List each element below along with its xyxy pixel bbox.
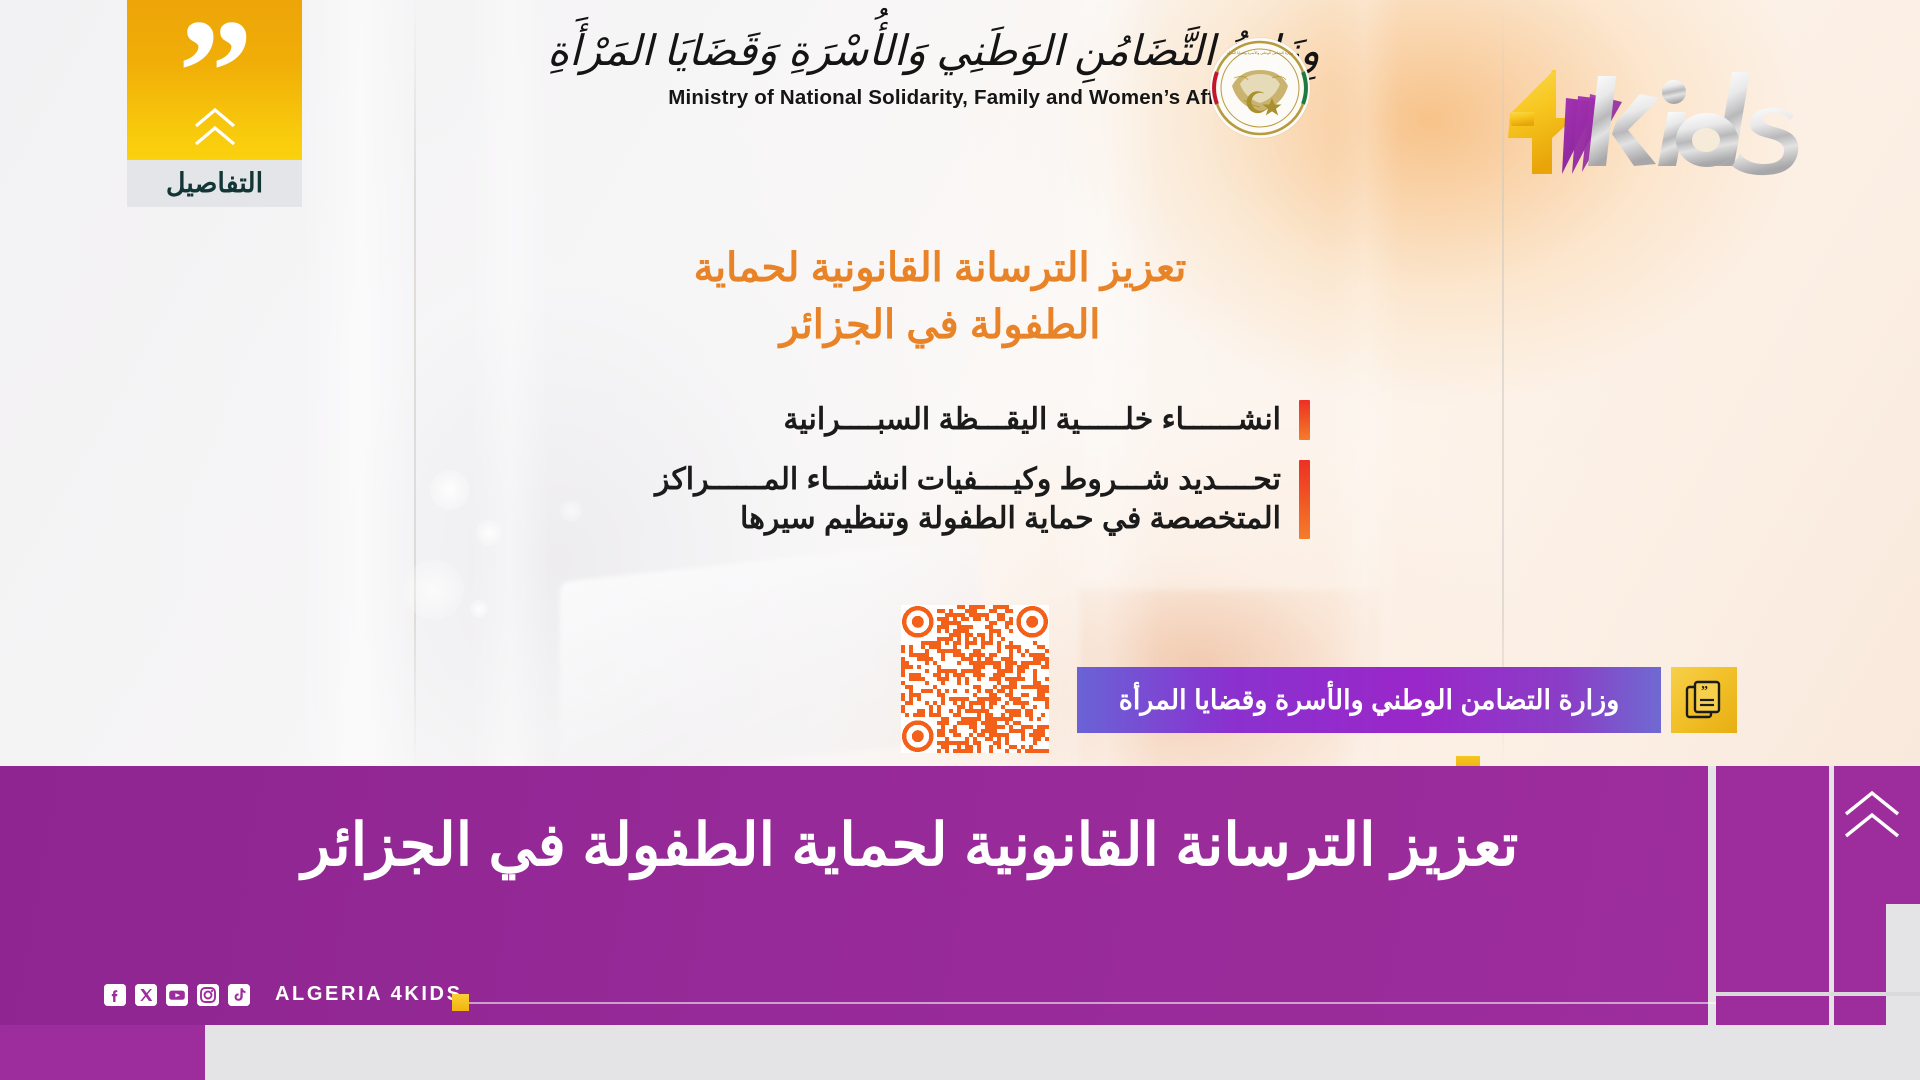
instagram-icon[interactable] — [197, 984, 219, 1006]
svg-text:”: ” — [1701, 684, 1708, 699]
orange-headline: تعزيز الترسانة القانونية لحماية الطفولة … — [520, 240, 1360, 354]
bullet-marker-icon — [1299, 460, 1310, 539]
list-item: تحــــديد شـــروط وكيــــفيات انشــــاء … — [600, 460, 1310, 539]
bullet-text: انشــــــاء خلـــــية اليقـــظة السبــــ… — [600, 400, 1281, 440]
details-badge-square: ” — [127, 0, 302, 160]
broadcast-graphic-screen: ” التفاصيل وِزَارَةُ التَّضَامُنِ الوَطَ… — [0, 0, 1920, 1080]
ministry-label-bar: وزارة التضامن الوطني والأسرة وقضايا المر… — [1077, 667, 1737, 733]
background-bokeh — [430, 470, 470, 510]
ticker-marker — [452, 994, 469, 1011]
details-badge[interactable]: ” التفاصيل — [127, 0, 302, 207]
orange-headline-line-2: الطفولة في الجزائر — [520, 297, 1360, 354]
double-chevron-up-icon — [127, 106, 302, 150]
bullet-list: انشــــــاء خلـــــية اليقـــظة السبــــ… — [600, 400, 1310, 559]
background-bokeh — [560, 500, 582, 522]
orange-headline-line-1: تعزيز الترسانة القانونية لحماية — [520, 240, 1360, 297]
background-vertical-line — [414, 0, 416, 766]
banner-footer-gap — [0, 1025, 1856, 1080]
background-drape — [300, 0, 420, 766]
list-item: انشــــــاء خلـــــية اليقـــظة السبــــ… — [600, 400, 1310, 440]
x-twitter-icon[interactable] — [135, 984, 157, 1006]
details-badge-label: التفاصيل — [127, 160, 302, 207]
tiktok-icon[interactable] — [228, 984, 250, 1006]
brand-name: ALGERIA 4KIDS — [275, 983, 463, 1006]
algeria-ministry-emblem-icon: وزارة التضامن الوطني والأسرة وقضايا المر… — [1210, 38, 1310, 138]
banner-footer-left-block — [0, 1025, 205, 1080]
qr-code[interactable] — [901, 605, 1049, 753]
background-drape — [470, 0, 550, 766]
right-panel-notch — [1886, 904, 1920, 1025]
bullet-text: تحــــديد شـــروط وكيــــفيات انشــــاء … — [600, 460, 1281, 539]
right-panel-strip-divider — [1716, 992, 1920, 996]
youtube-icon[interactable] — [166, 984, 188, 1006]
page-title: تعزيز الترسانة القانونية لحماية الطفولة … — [60, 812, 1760, 878]
documents-quote-icon: ” — [1671, 667, 1737, 733]
bottom-right-notch — [1856, 1025, 1920, 1080]
ministry-label-text: وزارة التضامن الوطني والأسرة وقضايا المر… — [1077, 667, 1661, 733]
background-bokeh — [404, 560, 464, 620]
4kids-logo — [1482, 58, 1802, 198]
background-bokeh — [476, 520, 502, 546]
bullet-marker-icon — [1299, 400, 1310, 440]
double-chevron-up-icon[interactable] — [1838, 788, 1906, 844]
ticker-divider — [452, 994, 1724, 1011]
background-bokeh — [470, 600, 488, 618]
right-panel-divider — [1829, 766, 1834, 1025]
facebook-icon[interactable] — [104, 984, 126, 1006]
ticker-line — [469, 1002, 1724, 1004]
social-links-row: ALGERIA 4KIDS — [104, 983, 463, 1006]
